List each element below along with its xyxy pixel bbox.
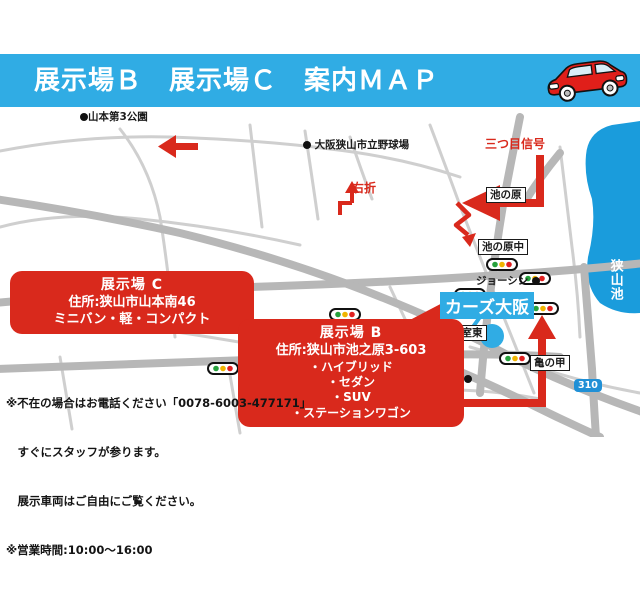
intersection-ikenoharanaka: 池の原中 xyxy=(478,239,528,255)
poi-joshin: ジョーシン xyxy=(476,275,540,287)
poi-dot xyxy=(464,375,472,383)
poi-yamamoto-3-park: 山本第3公園 xyxy=(80,111,148,123)
bottom-note-line-3: ※営業時間:10:00～16:00 xyxy=(6,542,306,558)
destination-badge-cars-osaka: カーズ大阪 xyxy=(440,292,534,319)
red-arrow-zigzag xyxy=(456,203,469,235)
red-arrow-turn-right-tail xyxy=(340,203,352,215)
callout-c-address: 住所:狭山市山本南46 xyxy=(18,295,246,312)
header-bar: 展示場Ｂ 展示場Ｃ 案内ＭＡＰ xyxy=(0,54,640,107)
poi-dot xyxy=(303,141,311,149)
route-shield-310: 310 xyxy=(574,379,602,392)
pond-label-sayama-ike: 狭山池 xyxy=(608,259,622,301)
poi-dot xyxy=(80,113,88,121)
bottom-note-line-2: 展示車両はご自由にご覧ください。 xyxy=(6,493,306,509)
intersection-ikenohara: 池の原 xyxy=(486,187,526,203)
callout-b-title: 展示場 B xyxy=(246,325,456,343)
intersection-line-1: 池の原中 xyxy=(482,241,524,253)
poi-osaka-sayama-baseball: 大阪狭山市立野球場 xyxy=(303,139,409,151)
bottom-note: ※不在の場合はお電話ください「0078-6003-477171」 すぐにスタッフ… xyxy=(6,362,306,591)
callout-showroom-c: 展示場 C 住所:狭山市山本南46 ミニバン・軽・コンパクト xyxy=(10,271,254,334)
poi-dot xyxy=(532,277,540,285)
map-flyer: 展示場Ｂ 展示場Ｃ 案内ＭＡＰ xyxy=(0,0,640,480)
poi-label: ジョーシン xyxy=(476,275,528,287)
bottom-note-line-0: ※不在の場合はお電話ください「0078-6003-477171」 xyxy=(6,395,306,411)
page-title: 展示場Ｂ 展示場Ｃ 案内ＭＡＰ xyxy=(34,68,439,94)
traffic-signal-icon xyxy=(500,353,530,364)
note-turn-right: 右折 xyxy=(352,179,376,196)
callout-c-title: 展示場 C xyxy=(18,277,246,295)
poi-label: 大阪狭山市立野球場 xyxy=(315,139,410,151)
intersection-line-1: 池の原 xyxy=(490,189,522,201)
traffic-signal-icon xyxy=(487,259,517,270)
note-third-signal: 三つ目信号 xyxy=(485,135,545,152)
poi-label: 山本第3公園 xyxy=(88,111,148,123)
intersection-kamenoko: 亀の甲 xyxy=(530,355,570,371)
bottom-note-line-1: すぐにスタッフが参ります。 xyxy=(6,444,306,460)
red-minivan-icon xyxy=(538,58,632,104)
callout-c-item-0: ミニバン・軽・コンパクト xyxy=(18,312,246,329)
callout-b-address: 住所:狭山市池之原3-603 xyxy=(246,343,456,360)
intersection-line-1: 亀の甲 xyxy=(534,357,566,369)
